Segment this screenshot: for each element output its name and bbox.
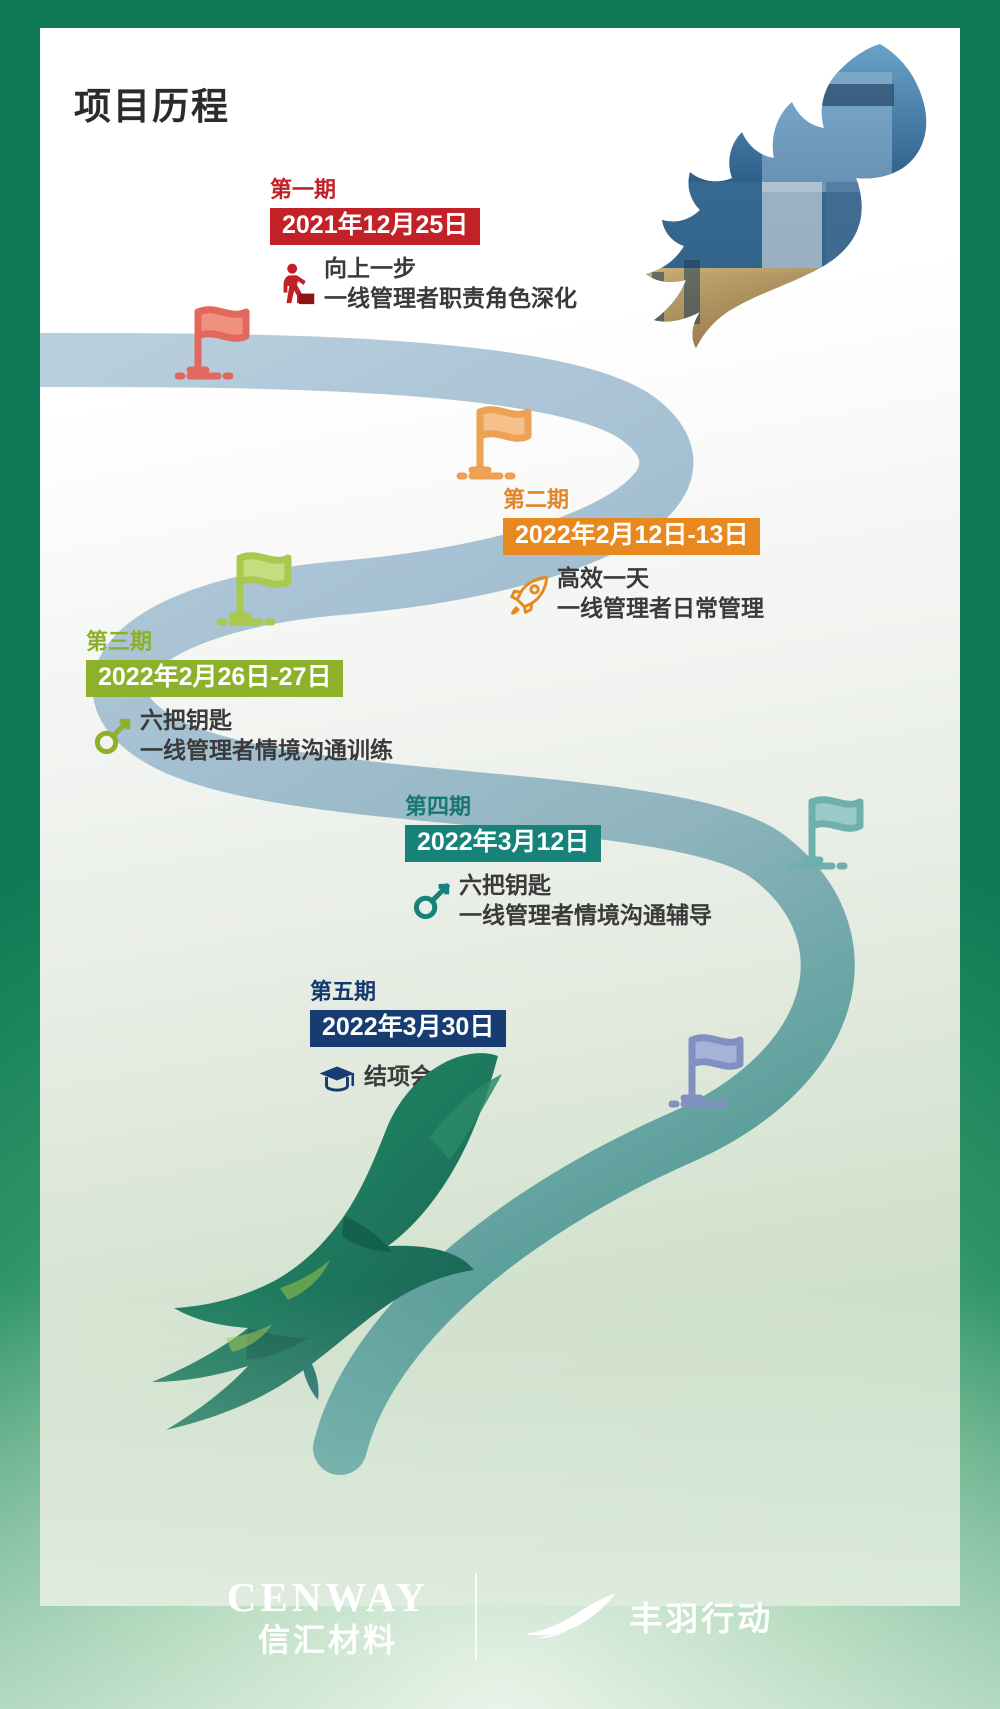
phase-4-name: 第四期: [405, 795, 712, 819]
phase-4: 第四期 2022年3月12日 六把钥匙 一线管理者情境沟通辅导: [405, 795, 712, 930]
fengyu-text: 丰羽行动: [629, 1592, 773, 1640]
footer-divider: [475, 1573, 477, 1659]
key-icon: [405, 879, 459, 923]
stair-climber-icon: [270, 261, 324, 307]
phase-2-subtitle: 一线管理者日常管理: [557, 594, 764, 623]
cenway-logo: CENWAY 信汇材料: [227, 1577, 475, 1656]
phase-3-name: 第三期: [86, 630, 393, 654]
phase-3-text: 六把钥匙 一线管理者情境沟通训练: [140, 706, 393, 765]
phase-3-subtitle: 一线管理者情境沟通训练: [140, 736, 393, 765]
flag-teal-icon: [782, 780, 878, 876]
phase-1-date: 2021年12月25日: [270, 208, 480, 245]
eagle-illustration: [130, 1038, 590, 1458]
flag-green-icon: [210, 536, 306, 632]
phase-2-title: 高效一天: [557, 564, 764, 593]
phase-1-title: 向上一步: [324, 254, 577, 283]
phase-1-name: 第一期: [270, 178, 577, 202]
rocket-icon: [503, 572, 557, 616]
phase-1: 第一期 2021年12月25日 向上一步 一线管理者职责角色深化: [270, 178, 577, 313]
fengyu-logo: 丰羽行动: [477, 1590, 773, 1642]
phase-3-date: 2022年2月26日-27日: [86, 660, 343, 697]
flag-orange-icon: [450, 390, 546, 486]
cenway-wordmark: CENWAY: [227, 1577, 429, 1618]
phase-2-text: 高效一天 一线管理者日常管理: [557, 564, 764, 623]
phase-4-subtitle: 一线管理者情境沟通辅导: [459, 901, 712, 930]
flag-red-icon: [168, 290, 264, 386]
wing-icon: [521, 1590, 617, 1642]
phase-2-date: 2022年2月12日-13日: [503, 518, 760, 555]
footer-brands: CENWAY 信汇材料 丰羽行动: [0, 1573, 1000, 1659]
phase-4-date: 2022年3月12日: [405, 825, 601, 862]
page-title: 项目历程: [74, 76, 230, 130]
cenway-chinese-name: 信汇材料: [227, 1624, 429, 1656]
phase-2-name: 第二期: [503, 488, 764, 512]
phase-1-text: 向上一步 一线管理者职责角色深化: [324, 254, 577, 313]
phase-1-subtitle: 一线管理者职责角色深化: [324, 284, 577, 313]
phase-2: 第二期 2022年2月12日-13日 高效一天: [503, 488, 764, 623]
phase-4-title: 六把钥匙: [459, 871, 712, 900]
eagle-photo-silhouette: [612, 32, 942, 362]
phase-4-text: 六把钥匙 一线管理者情境沟通辅导: [459, 871, 712, 930]
phase-3: 第三期 2022年2月26日-27日 六把钥匙 一线管理者情境沟通训练: [86, 630, 393, 765]
poster-card: 项目历程: [40, 28, 960, 1606]
flag-blue-icon: [662, 1018, 758, 1114]
key-icon: [86, 714, 140, 758]
phase-3-title: 六把钥匙: [140, 706, 393, 735]
poster-background: 项目历程: [0, 0, 1000, 1709]
phase-5-name: 第五期: [310, 980, 506, 1004]
